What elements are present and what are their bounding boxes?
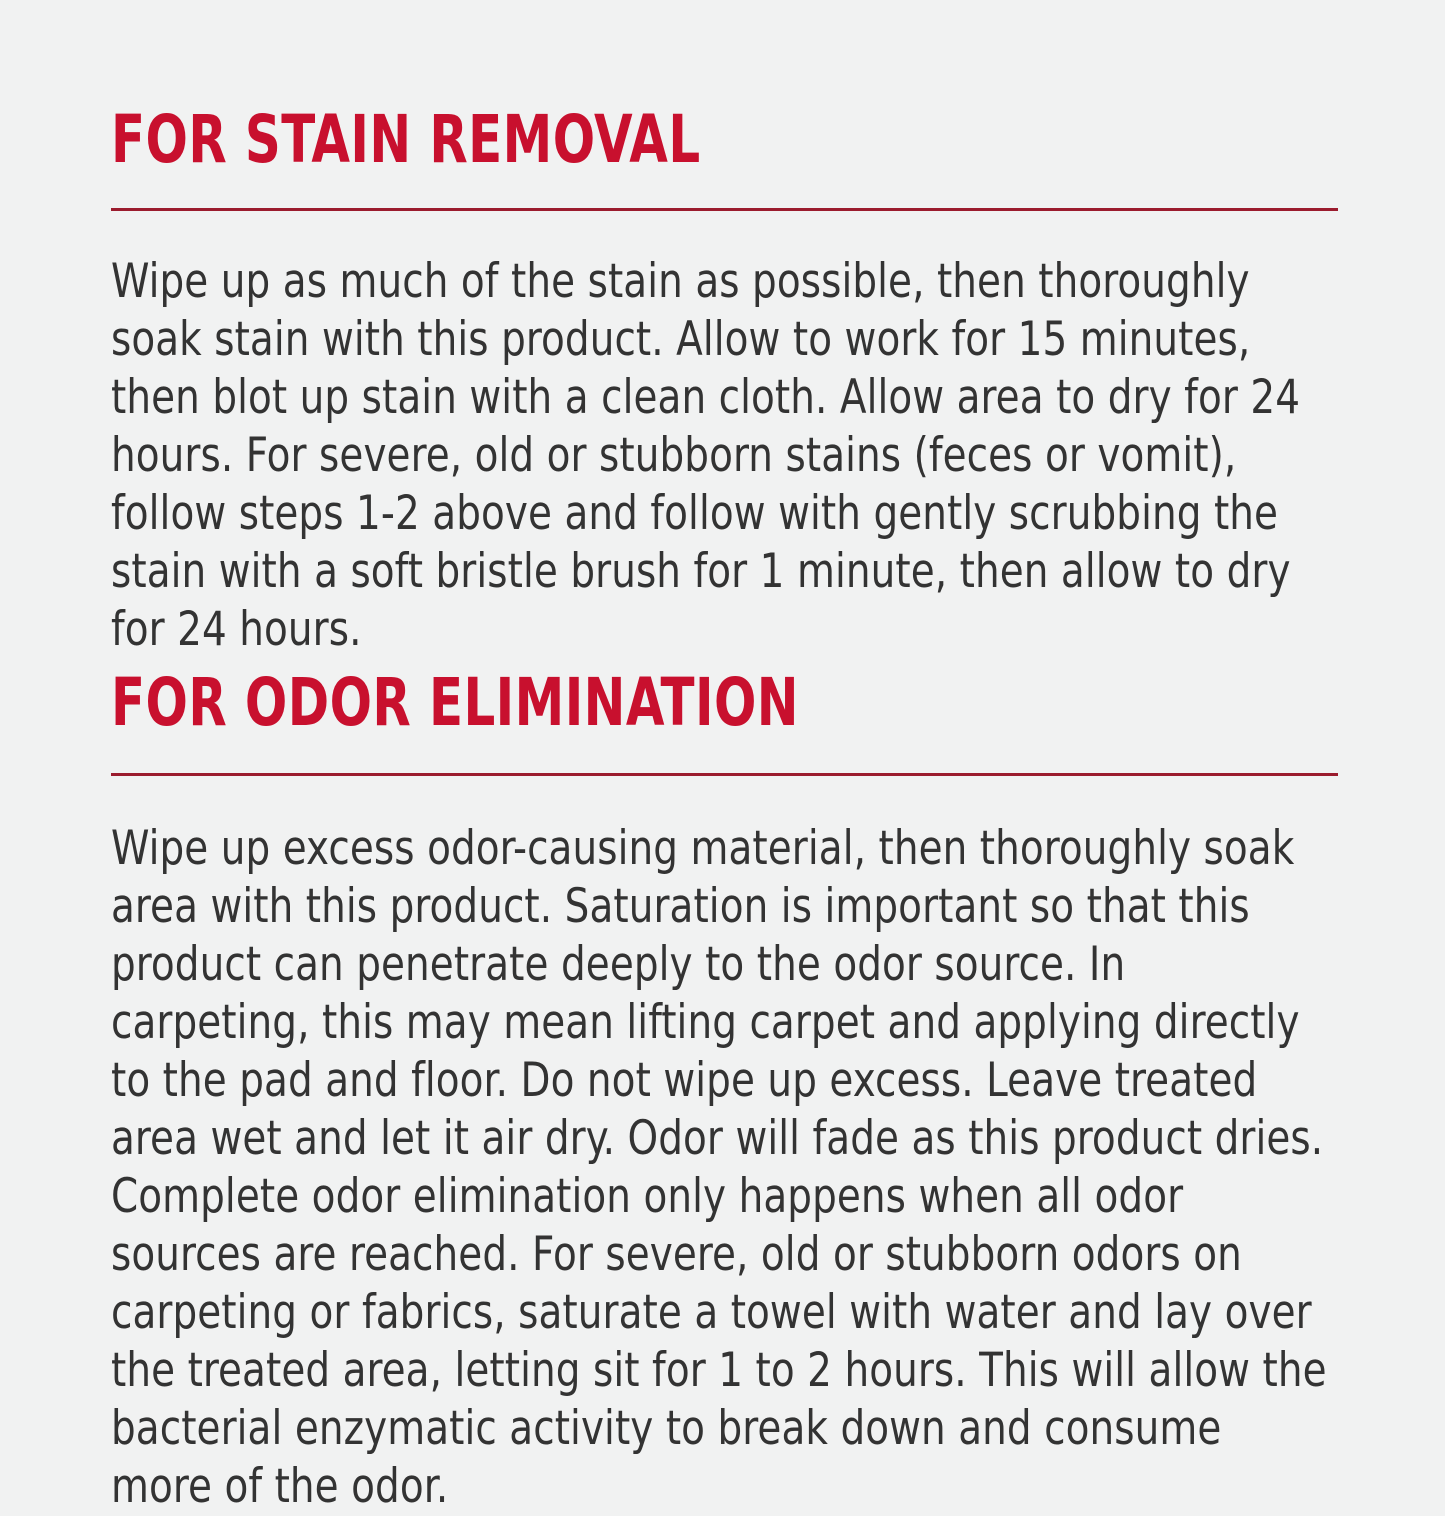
rule-body-spacer bbox=[111, 211, 1339, 253]
heading-rule-spacer bbox=[111, 176, 1339, 208]
heading-rule-spacer bbox=[111, 739, 1339, 773]
section-body-odor-elimination: Wipe up excess odor-causing material, th… bbox=[111, 820, 1335, 1516]
section-heading-odor-elimination: FOR ODOR ELIMINATION bbox=[111, 667, 1143, 739]
section-odor-elimination: FOR ODOR ELIMINATION Wipe up excess odor… bbox=[111, 667, 1339, 1516]
section-heading-stain-removal: FOR STAIN REMOVAL bbox=[111, 104, 1143, 176]
rule-body-spacer bbox=[111, 776, 1339, 820]
instructions-panel: FOR STAIN REMOVAL Wipe up as much of the… bbox=[0, 0, 1445, 1445]
section-stain-removal: FOR STAIN REMOVAL Wipe up as much of the… bbox=[111, 104, 1339, 659]
section-body-stain-removal: Wipe up as much of the stain as possible… bbox=[111, 253, 1307, 659]
